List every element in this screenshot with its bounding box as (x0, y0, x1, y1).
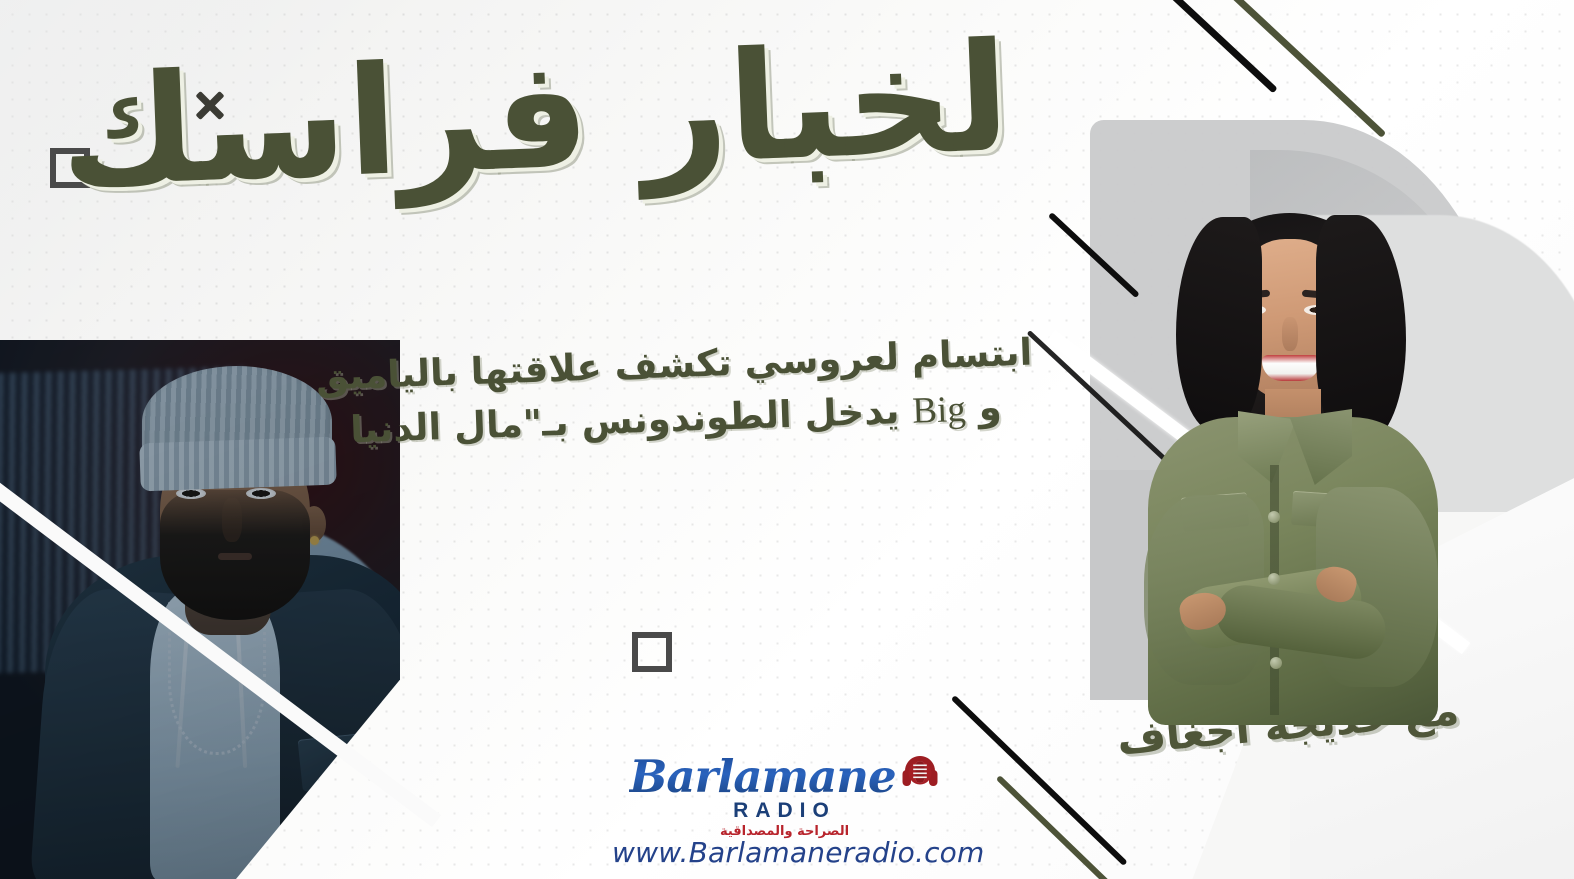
decor-square-center (632, 632, 672, 672)
presenter-photo-caption: مقدمة البرنامج بسترة خضراء (1459, 195, 1460, 196)
presenter-photo: مقدمة البرنامج بسترة خضراء (1120, 195, 1460, 725)
jacket-button-2 (1268, 573, 1280, 585)
presenter-nose (1282, 317, 1298, 351)
jacket-button-3 (1270, 657, 1282, 669)
program-title: لخبار فراسك (167, 20, 1012, 210)
hair-front-right (1316, 215, 1406, 443)
presenter-smile (1262, 355, 1320, 381)
hair-front-left (1176, 217, 1262, 432)
microphone-headphones-icon (900, 752, 940, 797)
subtitle-artist-name: Big (912, 389, 967, 432)
station-logo-wordmark: Barlamane (629, 754, 895, 799)
jacket-button-1 (1268, 511, 1280, 523)
subtitle-conjunction: و (978, 385, 1002, 429)
station-logo[interactable]: Barlamane RADIO الصراحة والمصداقية (612, 752, 957, 839)
radio-program-poster: رجل بقبعة صوفية وسترة جينز مقدمة البرنام… (0, 0, 1574, 879)
station-logo-row: Barlamane (612, 752, 957, 801)
station-website-url[interactable]: www.Barlamaneradio.com (612, 836, 957, 869)
